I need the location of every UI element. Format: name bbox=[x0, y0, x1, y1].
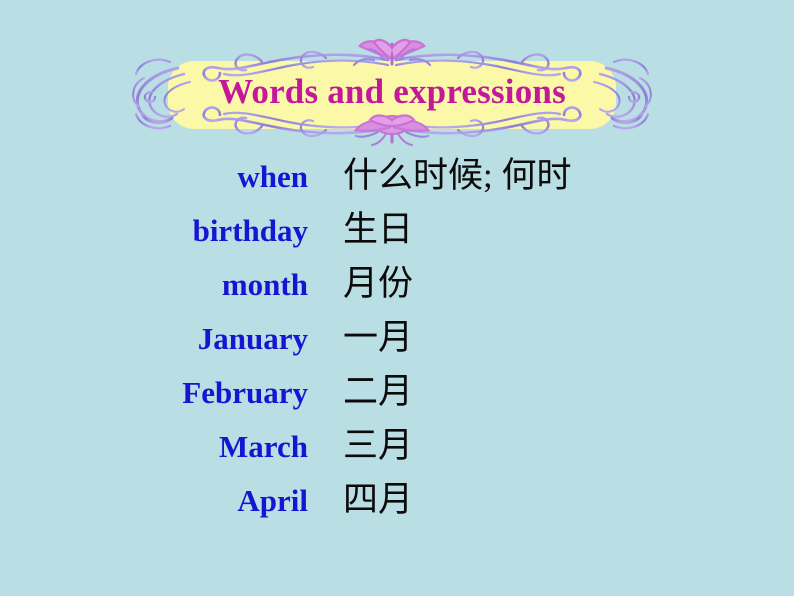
vocabulary-row: March 三月 bbox=[0, 428, 794, 482]
vocabulary-row: April 四月 bbox=[0, 482, 794, 536]
banner-title: Words and expressions bbox=[112, 38, 672, 148]
vocabulary-row: birthday 生日 bbox=[0, 212, 794, 266]
vocabulary-chinese: 生日 bbox=[343, 212, 413, 247]
vocabulary-chinese: 什么时候; 何时 bbox=[343, 158, 571, 193]
vocabulary-row: when 什么时候; 何时 bbox=[0, 158, 794, 212]
slide-canvas: Words and expressions when 什么时候; 何时 birt… bbox=[0, 0, 794, 596]
vocabulary-english: January bbox=[0, 323, 308, 354]
vocabulary-chinese: 一月 bbox=[343, 320, 413, 355]
vocabulary-list: when 什么时候; 何时 birthday 生日 month 月份 Janua… bbox=[0, 158, 794, 536]
vocabulary-chinese: 二月 bbox=[343, 374, 413, 409]
vocabulary-row: January 一月 bbox=[0, 320, 794, 374]
vocabulary-row: month 月份 bbox=[0, 266, 794, 320]
vocabulary-english: April bbox=[0, 485, 308, 516]
vocabulary-english: when bbox=[0, 161, 308, 192]
title-banner: Words and expressions bbox=[112, 38, 672, 148]
vocabulary-english: month bbox=[0, 269, 308, 300]
vocabulary-chinese: 四月 bbox=[343, 482, 413, 517]
vocabulary-chinese: 三月 bbox=[343, 428, 413, 463]
vocabulary-english: March bbox=[0, 431, 308, 462]
vocabulary-english: February bbox=[0, 377, 308, 408]
vocabulary-english: birthday bbox=[0, 215, 308, 246]
vocabulary-chinese: 月份 bbox=[343, 266, 413, 301]
vocabulary-row: February 二月 bbox=[0, 374, 794, 428]
